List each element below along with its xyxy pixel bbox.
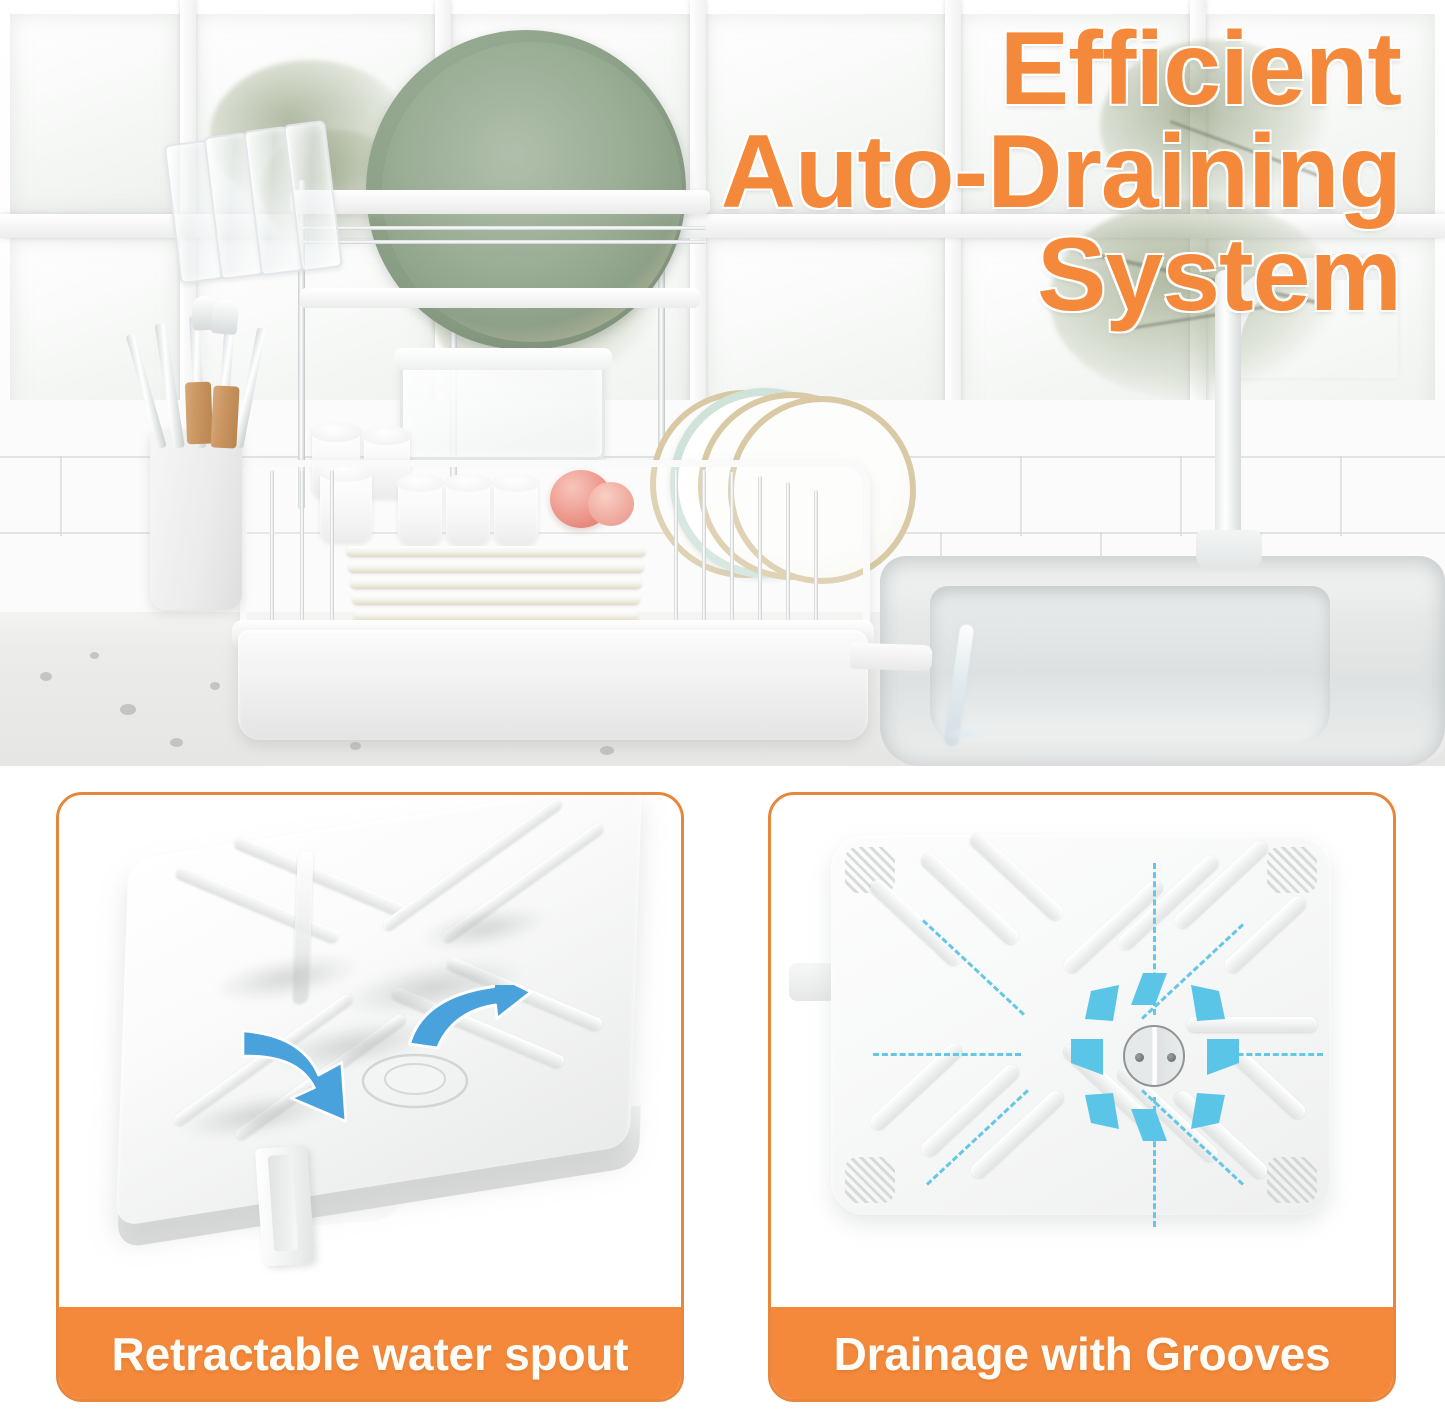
product-feature-image: Efficient Auto-Draining System xyxy=(0,0,1445,1415)
hero-photo: Efficient Auto-Draining System xyxy=(0,0,1445,766)
panel-body xyxy=(59,795,681,1307)
cup-rim xyxy=(362,426,412,445)
headline-line-2: Auto-Draining xyxy=(701,121,1401,224)
food-container-lid xyxy=(394,348,612,370)
panel-caption-bar: Retractable water spout xyxy=(58,1307,682,1400)
food-container xyxy=(400,360,605,460)
flow-guide-dashed xyxy=(873,1053,1021,1056)
sink-inner-basin xyxy=(930,586,1330,744)
upper-shelf xyxy=(290,190,710,214)
headline: Efficient Auto-Draining System xyxy=(701,18,1401,327)
panel-caption-text: Retractable water spout xyxy=(112,1327,629,1381)
corner-pad xyxy=(845,1157,895,1203)
corner-pad xyxy=(1267,1157,1317,1203)
flow-arrows xyxy=(1067,969,1243,1145)
panel-caption-text: Drainage with Grooves xyxy=(834,1327,1331,1381)
cup-rim xyxy=(310,422,362,442)
water-splash xyxy=(940,726,992,742)
headline-line-3: System xyxy=(701,224,1401,327)
upper-shelf-rail xyxy=(300,288,700,308)
drain-tray-top-view xyxy=(831,835,1331,1215)
feature-panel-retractable-spout: Retractable water spout xyxy=(56,792,684,1402)
panel-caption-bar: Drainage with Grooves xyxy=(770,1307,1394,1400)
headline-line-1: Efficient xyxy=(701,18,1401,121)
faucet-base xyxy=(1196,530,1262,570)
rotation-arrows xyxy=(219,985,599,1145)
tray-side-outlet xyxy=(789,963,837,1001)
drain-tray xyxy=(238,630,868,740)
tray-water-spout xyxy=(850,643,933,672)
panel-body xyxy=(771,795,1393,1307)
feature-panel-drainage-grooves: Drainage with Grooves xyxy=(768,792,1396,1402)
utensil-holder xyxy=(150,430,242,610)
corner-pad xyxy=(1267,847,1317,893)
fork-tines xyxy=(211,299,240,335)
wooden-handle xyxy=(185,382,213,445)
wooden-handle xyxy=(210,385,239,448)
